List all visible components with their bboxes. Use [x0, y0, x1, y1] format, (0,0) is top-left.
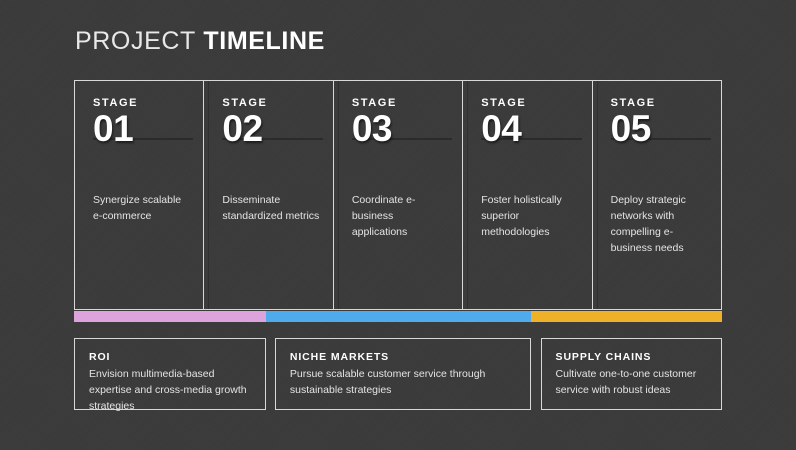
stage-description: Foster holistically superior methodologi… [481, 193, 579, 241]
roi-segment [74, 311, 266, 322]
stage-number: 04 [481, 110, 521, 148]
niche-markets-segment [266, 311, 531, 322]
summary-box-2[interactable]: NICHE MARKETSPursue scalable customer se… [275, 338, 531, 410]
page-title: PROJECT TIMELINE [75, 27, 325, 56]
stage-number: 05 [611, 110, 651, 148]
stages-frame: STAGE01Synergize scalable e-commerceSTAG… [74, 80, 722, 310]
page-title-bold: TIMELINE [203, 27, 324, 55]
summary-box-title: SUPPLY CHAINS [556, 351, 707, 363]
timeline-color-bar [74, 311, 722, 322]
stage-number: 02 [222, 110, 262, 148]
summary-box-title: NICHE MARKETS [290, 351, 516, 363]
stage-card-02[interactable]: STAGE02Disseminate standardized metrics [203, 81, 332, 309]
stage-description: Coordinate e-business applications [352, 193, 450, 241]
stage-card-01[interactable]: STAGE01Synergize scalable e-commerce [75, 81, 203, 309]
stage-description: Synergize scalable e-commerce [93, 193, 191, 225]
summary-box-3[interactable]: SUPPLY CHAINSCultivate one-to-one custom… [541, 338, 722, 410]
summary-box-title: ROI [89, 351, 251, 363]
page-title-thin: PROJECT [75, 27, 196, 55]
slide-canvas: PROJECT TIMELINE STAGE01Synergize scalab… [0, 0, 796, 450]
stage-number: 03 [352, 110, 392, 148]
stage-card-04[interactable]: STAGE04Foster holistically superior meth… [462, 81, 591, 309]
summary-box-description: Envision multimedia-based expertise and … [89, 367, 251, 414]
stages-row: STAGE01Synergize scalable e-commerceSTAG… [75, 81, 721, 309]
summary-boxes-row: ROIEnvision multimedia-based expertise a… [74, 338, 722, 410]
stage-card-03[interactable]: STAGE03Coordinate e-business application… [333, 81, 462, 309]
stage-card-05[interactable]: STAGE05Deploy strategic networks with co… [592, 81, 721, 309]
stage-description: Deploy strategic networks with compellin… [611, 193, 709, 257]
supply-chains-segment [531, 311, 722, 322]
stage-description: Disseminate standardized metrics [222, 193, 320, 225]
summary-box-description: Pursue scalable customer service through… [290, 367, 516, 399]
summary-box-description: Cultivate one-to-one customer service wi… [556, 367, 707, 399]
stage-number: 01 [93, 110, 133, 148]
summary-box-1[interactable]: ROIEnvision multimedia-based expertise a… [74, 338, 266, 410]
